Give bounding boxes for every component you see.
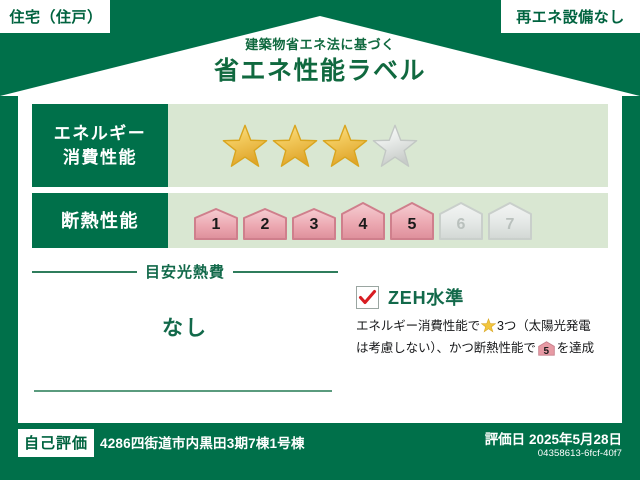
insulation-grade-7: 7 [486, 202, 534, 240]
check-icon [358, 288, 377, 307]
page-title: 省エネ性能ラベル [0, 55, 640, 87]
star-rating [168, 123, 418, 169]
grade-number: 1 [192, 216, 240, 234]
utility-cost-value: なし [32, 312, 338, 342]
insulation-grade-3: 3 [290, 208, 338, 240]
inline-star-icon [481, 318, 496, 339]
utility-cost-section: 目安光熱費 なし [32, 257, 338, 409]
insulation-performance-label-box: 断熱性能 [32, 193, 168, 248]
title-subtitle: 建築物省エネ法に基づく [0, 36, 640, 54]
insulation-performance-value: 1234567 [168, 193, 608, 248]
star-empty-icon [372, 123, 418, 169]
energy-performance-label-line1: エネルギー [54, 122, 147, 146]
badge-housing-label: 住宅（住戸） [9, 6, 102, 27]
insulation-performance-row: 断熱性能 1234567 [32, 193, 608, 248]
zeh-heading: ZEH水準 [356, 284, 608, 310]
badge-housing-type: 住宅（住戸） [0, 0, 110, 33]
zeh-title: ZEH水準 [388, 284, 464, 310]
evaluation-date: 評価日 2025年5月28日 [485, 428, 622, 448]
grade-number: 6 [437, 216, 485, 234]
zeh-section: ZEH水準 エネルギー消費性能で 3つ（太陽光発電 は考慮しない）、かつ断熱性能… [338, 257, 608, 409]
energy-performance-label-box: エネルギー 消費性能 [32, 104, 168, 187]
footer: 自己評価 4286四街道市内黒田3期7棟1号棟 評価日 2025年5月28日 0… [0, 423, 640, 480]
inline-grade-marker: 5 [538, 341, 555, 362]
zeh-checkbox[interactable] [356, 286, 379, 309]
zeh-desc-part1: エネルギー消費性能で [356, 319, 480, 333]
star-filled-icon [222, 123, 268, 169]
insulation-grade-2: 2 [241, 208, 289, 240]
rule-right [233, 271, 338, 273]
zeh-desc-part2: は考慮しない）、かつ断熱性能で [356, 341, 536, 355]
grade-number: 7 [486, 216, 534, 234]
insulation-performance-label: 断熱性能 [61, 209, 139, 233]
insulation-grade-1: 1 [192, 208, 240, 240]
insulation-grade-scale: 1234567 [168, 202, 534, 240]
energy-performance-row: エネルギー 消費性能 [32, 104, 608, 187]
title-block: 建築物省エネ法に基づく 省エネ性能ラベル [0, 36, 640, 87]
utility-cost-heading-label: 目安光熱費 [145, 261, 225, 282]
grade-number: 2 [241, 216, 289, 234]
evaluation-id: 04358613-6fcf-40f7 [538, 448, 622, 459]
utility-cost-heading: 目安光熱費 [32, 261, 338, 282]
lower-content: 目安光熱費 なし ZEH水準 エネルギー消費性能で [32, 257, 608, 409]
label-panel: エネルギー 消費性能 断熱性能 1234567 目安光熱費 [18, 93, 622, 423]
badge-renewable-equipment: 再エネ設備なし [501, 0, 640, 33]
grade-number: 5 [388, 216, 436, 234]
property-address: 4286四街道市内黒田3期7棟1号棟 [100, 432, 305, 452]
energy-performance-label-line2: 消費性能 [63, 146, 137, 170]
inline-grade-number: 5 [538, 342, 555, 361]
insulation-grade-5: 5 [388, 202, 436, 240]
zeh-desc-star-count: 3つ（太陽光発電 [497, 319, 591, 333]
badge-renewable-label: 再エネ設備なし [516, 6, 625, 27]
energy-performance-label: 住宅（住戸） 再エネ設備なし 建築物省エネ法に基づく 省エネ性能ラベル エネルギ… [0, 0, 640, 480]
utility-cost-bottom-rule [34, 390, 332, 392]
insulation-grade-6: 6 [437, 202, 485, 240]
energy-performance-value [168, 104, 608, 187]
zeh-desc-part3: を達成 [557, 341, 594, 355]
insulation-grade-4: 4 [339, 202, 387, 240]
star-filled-icon [272, 123, 318, 169]
self-evaluation-badge: 自己評価 [18, 429, 94, 457]
grade-number: 4 [339, 216, 387, 234]
grade-number: 3 [290, 216, 338, 234]
star-filled-icon [322, 123, 368, 169]
rule-left [32, 271, 137, 273]
zeh-description: エネルギー消費性能で 3つ（太陽光発電 は考慮しない）、かつ断熱性能で 5を達成 [356, 317, 608, 362]
